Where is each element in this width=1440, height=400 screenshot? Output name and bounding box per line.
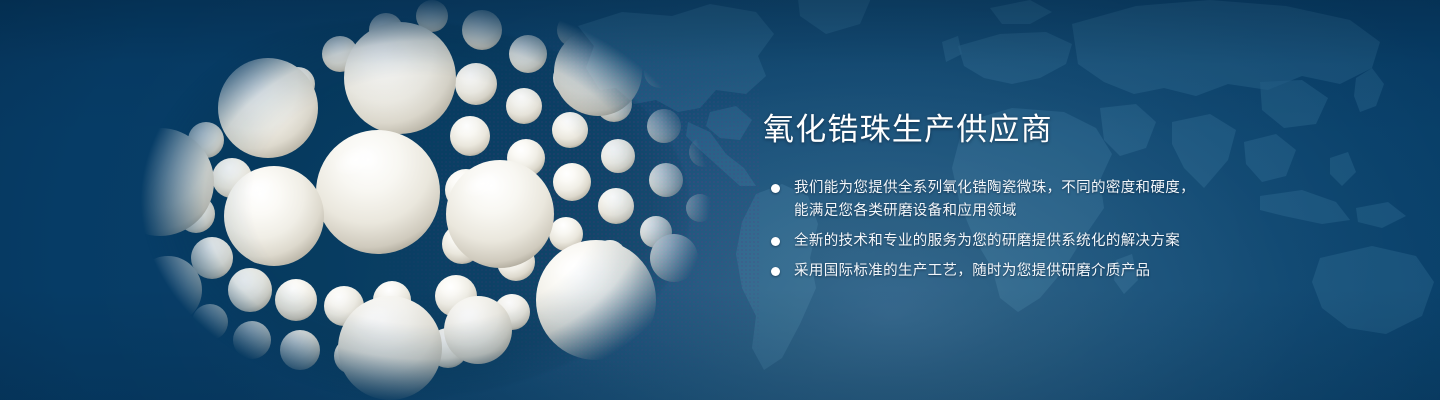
feature-bullet-list: 我们能为您提供全系列氧化锆陶瓷微珠，不同的密度和硬度， 能满足您各类研磨设备和应… [763, 177, 1363, 283]
bullet-dot-icon [771, 267, 780, 276]
bullet-text-line: 能满足您各类研磨设备和应用领域 [794, 200, 1363, 223]
list-item: 采用国际标准的生产工艺，随时为您提供研磨介质产品 [763, 260, 1363, 283]
list-item: 我们能为您提供全系列氧化锆陶瓷微珠，不同的密度和硬度， 能满足您各类研磨设备和应… [763, 177, 1363, 223]
hero-banner: 氧化锆珠生产供应商 我们能为您提供全系列氧化锆陶瓷微珠，不同的密度和硬度， 能满… [0, 0, 1440, 400]
bullet-dot-icon [771, 184, 780, 193]
bullet-dot-icon [771, 237, 780, 246]
bullet-text-line: 我们能为您提供全系列氧化锆陶瓷微珠，不同的密度和硬度， [794, 177, 1363, 200]
bullet-text-line: 采用国际标准的生产工艺，随时为您提供研磨介质产品 [794, 260, 1363, 283]
banner-copy-block: 氧化锆珠生产供应商 我们能为您提供全系列氧化锆陶瓷微珠，不同的密度和硬度， 能满… [763, 110, 1363, 283]
page-title: 氧化锆珠生产供应商 [763, 110, 1363, 150]
bullet-text-line: 全新的技术和专业的服务为您的研磨提供系统化的解决方案 [794, 230, 1363, 253]
list-item: 全新的技术和专业的服务为您的研磨提供系统化的解决方案 [763, 230, 1363, 253]
